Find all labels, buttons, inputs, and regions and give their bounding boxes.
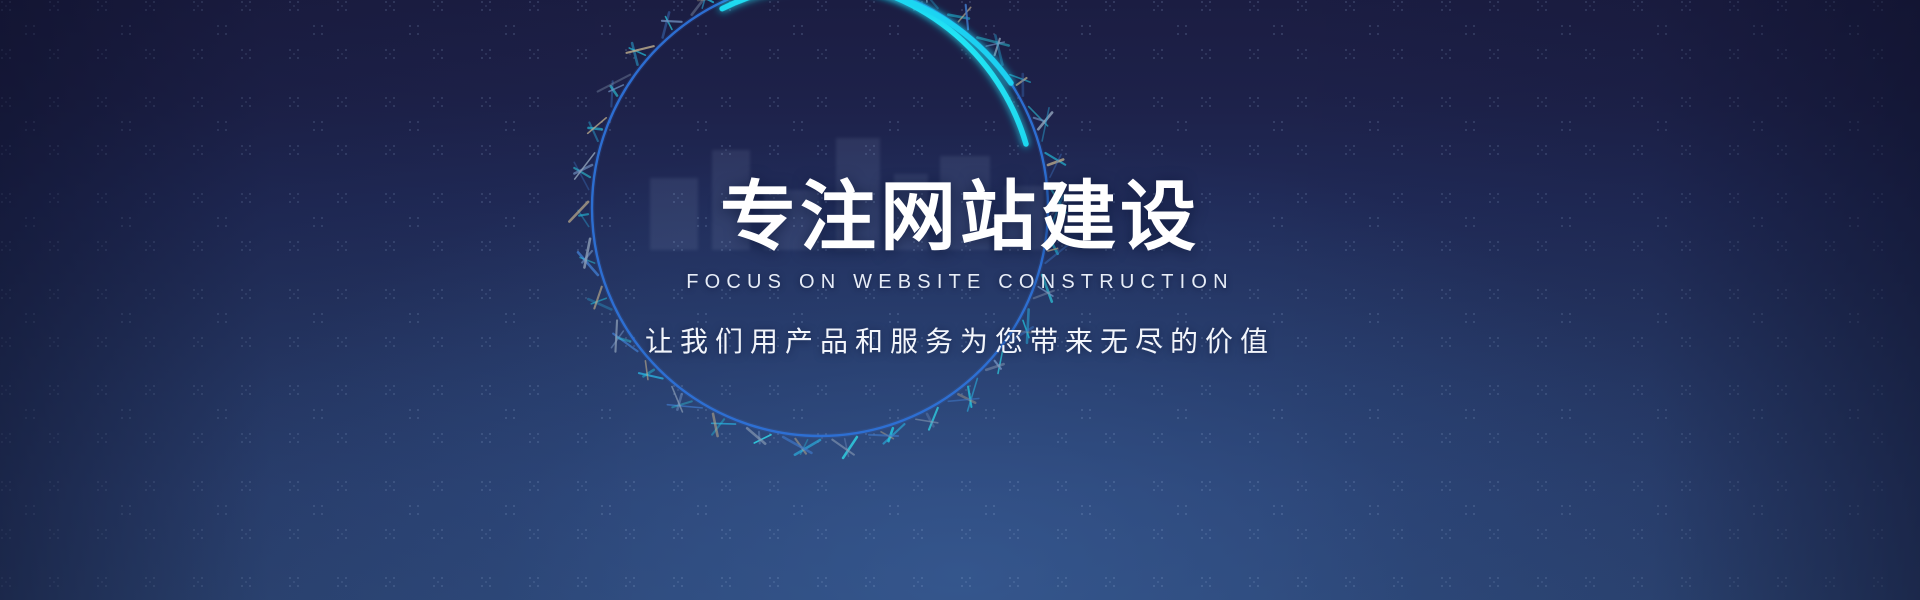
banner-text-block: 专注网站建设 FOCUS ON WEBSITE CONSTRUCTION 让我们… — [0, 0, 1920, 600]
subtitle-english: FOCUS ON WEBSITE CONSTRUCTION — [686, 271, 1234, 294]
subtitle-chinese: 让我们用产品和服务为您带来无尽的价值 — [645, 320, 1275, 360]
page-title: 专注网站建设 — [720, 178, 1200, 256]
hero-banner: 专注网站建设 FOCUS ON WEBSITE CONSTRUCTION 让我们… — [0, 0, 1920, 600]
